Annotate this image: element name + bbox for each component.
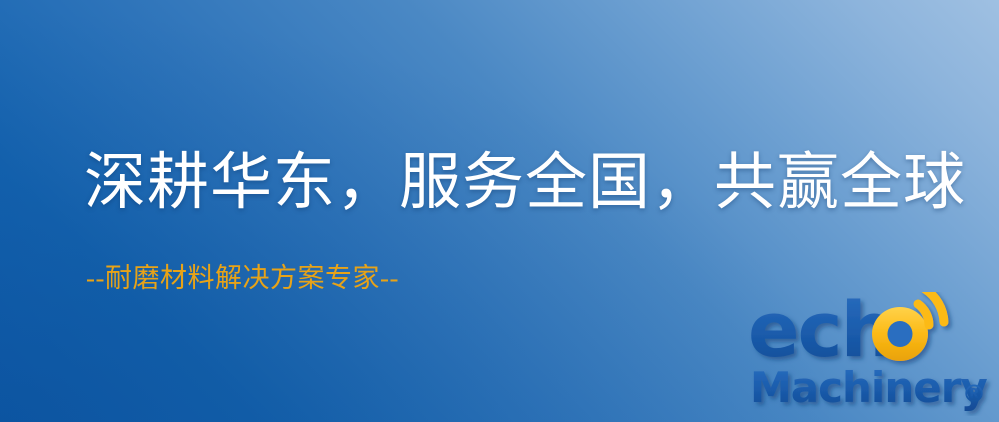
hero-banner: 深耕华东，服务全国，共赢全球 --耐磨材料解决方案专家-- bbox=[0, 0, 999, 422]
logo-tagline: Machinery bbox=[750, 363, 987, 412]
logo-wordmark-echo: ech bbox=[748, 292, 893, 374]
banner-subtitle: --耐磨材料解决方案专家-- bbox=[86, 265, 399, 292]
banner-headline: 深耕华东，服务全国，共赢全球 bbox=[84, 152, 966, 214]
echo-machinery-logo[interactable]: ech Machinery ® bbox=[748, 292, 996, 416]
logo-registered-mark: ® bbox=[962, 380, 986, 408]
logo-letter-o bbox=[872, 307, 928, 361]
